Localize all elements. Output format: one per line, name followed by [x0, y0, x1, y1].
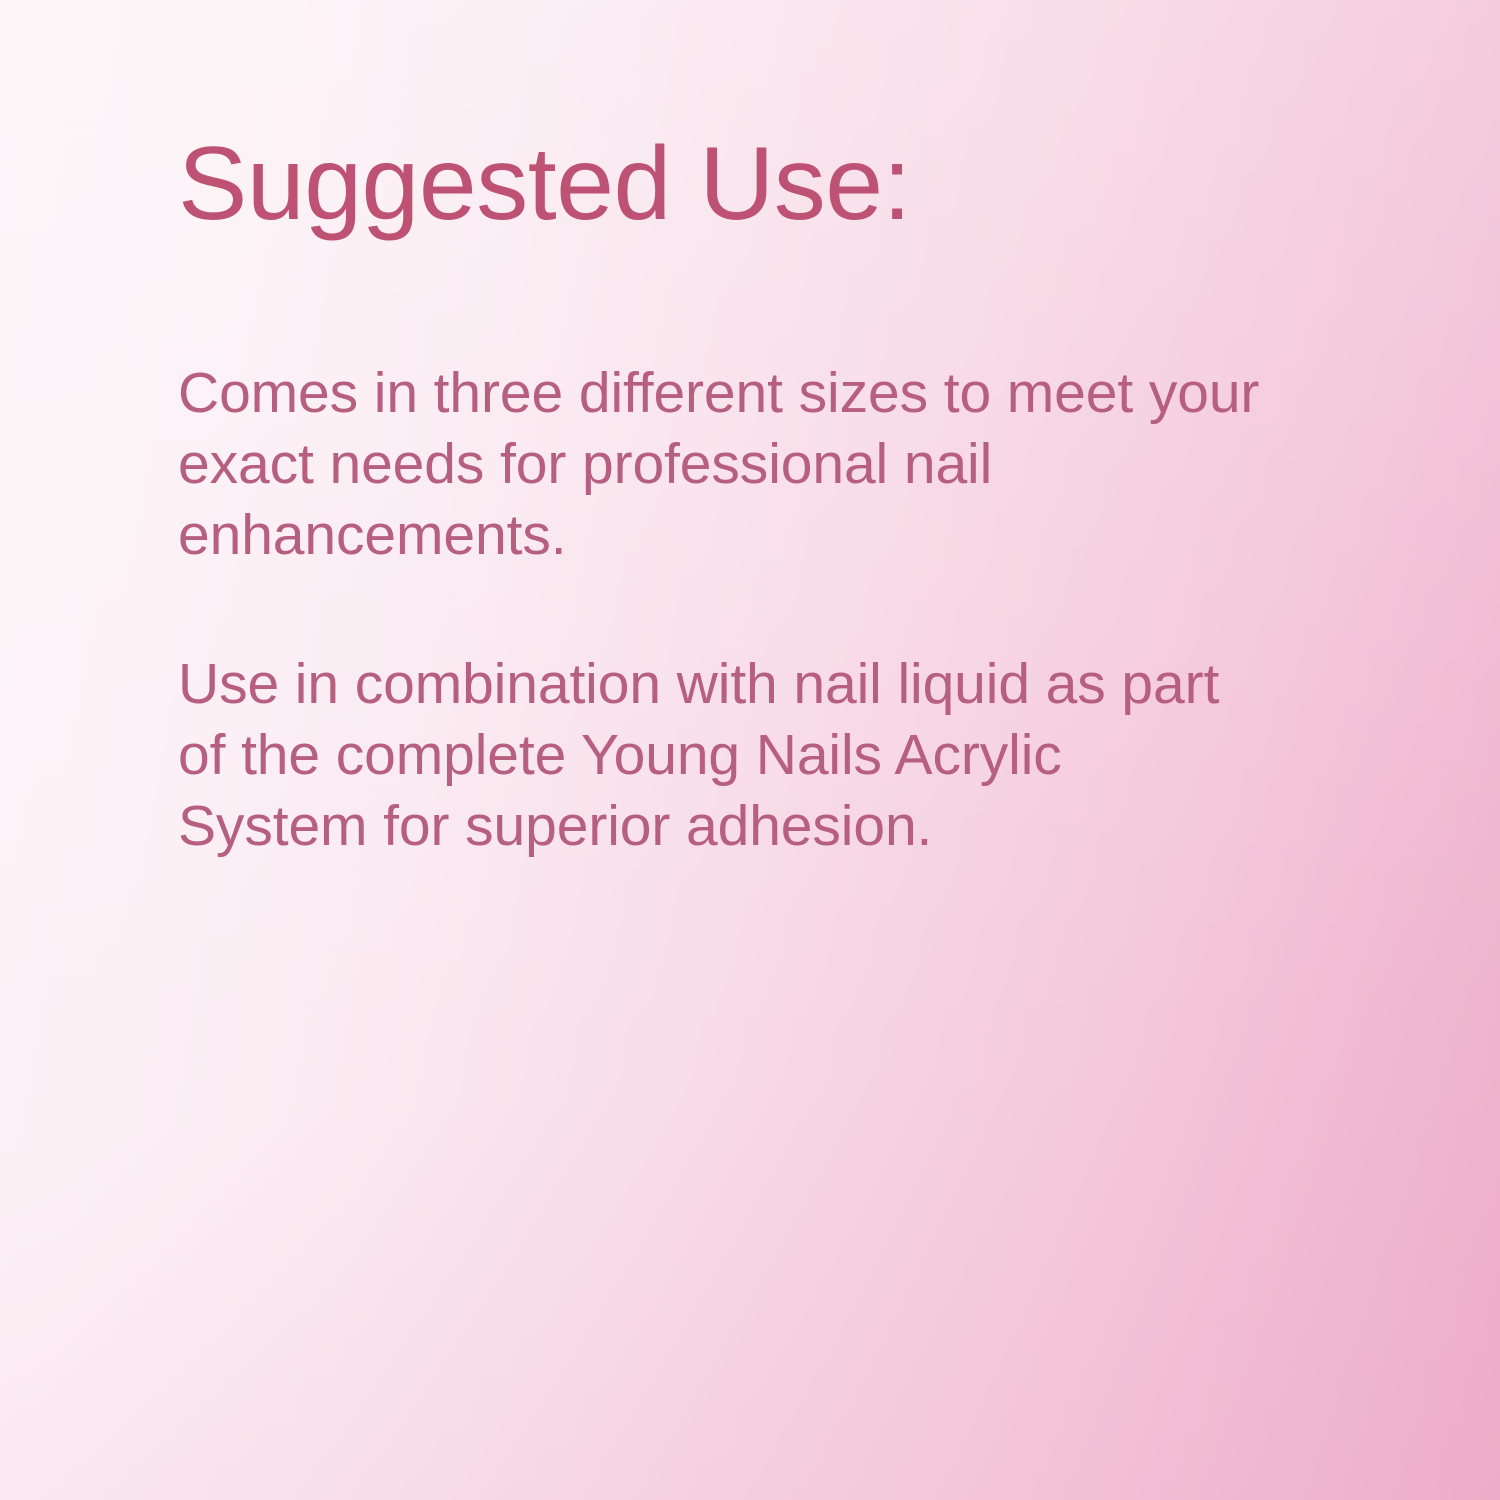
page-title: Suggested Use:: [178, 128, 1288, 240]
suggested-use-panel: Suggested Use: Comes in three different …: [0, 0, 1500, 1500]
text-content-block: Suggested Use: Comes in three different …: [178, 128, 1288, 862]
body-paragraph-system: Use in combination with nail liquid as p…: [178, 649, 1248, 862]
body-paragraph-sizes: Comes in three different sizes to meet y…: [178, 358, 1268, 571]
